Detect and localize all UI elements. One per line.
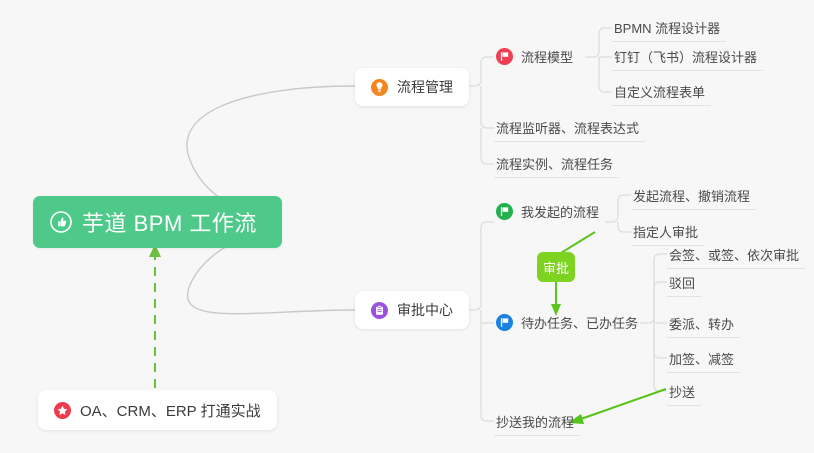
star-icon <box>54 402 71 419</box>
node-start-cancel-flow[interactable]: 发起流程、撤销流程 <box>631 182 756 210</box>
node-process-model[interactable]: 流程模型 <box>494 43 579 71</box>
flag-icon <box>496 48 513 65</box>
connector-process-model-children <box>585 28 612 57</box>
root-node[interactable]: 芋道 BPM 工作流 <box>33 196 282 248</box>
node-label-delegate-transfer: 委派、转办 <box>669 314 734 333</box>
node-label-process-listener-expression: 流程监听器、流程表达式 <box>496 118 639 137</box>
node-label-reject: 驳回 <box>669 273 695 292</box>
lightbulb-icon <box>371 79 388 96</box>
node-todo-done-tasks[interactable]: 待办任务、已办任务 <box>494 309 644 337</box>
connector-approval-center-child2 <box>481 310 494 323</box>
connector-my-flows-child2 <box>618 222 631 232</box>
node-cc-to-me-flows[interactable]: 抄送我的流程 <box>494 408 580 436</box>
node-label-cc-to-me-flows: 抄送我的流程 <box>496 412 574 431</box>
node-custom-form[interactable]: 自定义流程表单 <box>612 78 711 106</box>
node-label-process-instance-task: 流程实例、流程任务 <box>496 154 613 173</box>
node-label-dingtalk-feishu-designer: 钉钉（飞书）流程设计器 <box>614 47 757 66</box>
node-label-cc: 抄送 <box>669 382 695 401</box>
node-label-start-cancel-flow: 发起流程、撤销流程 <box>633 186 750 205</box>
node-my-initiated-flows[interactable]: 我发起的流程 <box>494 198 605 226</box>
footnote-label: OA、CRM、ERP 打通实战 <box>80 400 261 421</box>
node-label-custom-form: 自定义流程表单 <box>614 82 705 101</box>
branch-label-approval-center: 审批中心 <box>397 300 453 320</box>
connector-todo-child5 <box>654 323 667 391</box>
node-countersign[interactable]: 会签、或签、依次审批 <box>667 241 805 269</box>
connector-process-management-children <box>466 57 494 86</box>
connector-todo-children <box>640 254 667 323</box>
node-label-add-remove-sign: 加签、减签 <box>669 349 734 368</box>
node-label-process-model: 流程模型 <box>521 47 573 66</box>
connector-todo-child4 <box>654 323 667 358</box>
node-process-instance-task[interactable]: 流程实例、流程任务 <box>494 150 619 178</box>
arrow-cc-line <box>578 389 666 420</box>
node-bpmn-designer[interactable]: BPMN 流程设计器 <box>612 14 726 42</box>
approval-tag[interactable]: 审批 <box>537 252 575 282</box>
footnote-node-oa-crm-erp[interactable]: OA、CRM、ERP 打通实战 <box>38 390 277 430</box>
connector-process-management-branch-stem2 <box>481 128 494 164</box>
node-label-countersign: 会签、或签、依次审批 <box>669 245 799 264</box>
node-delegate-transfer[interactable]: 委派、转办 <box>667 310 740 338</box>
mindmap-canvas: 芋道 BPM 工作流 流程管理 流程模型 BPMN 流程设计器 钉钉（飞书）流程 <box>0 0 814 453</box>
connector-approval-center-child3 <box>481 323 494 421</box>
branch-label-process-management: 流程管理 <box>397 77 453 97</box>
node-add-remove-sign[interactable]: 加签、减签 <box>667 345 740 373</box>
approval-tag-label: 审批 <box>543 258 569 277</box>
connector-todo-child2 <box>654 282 667 323</box>
node-dingtalk-feishu-designer[interactable]: 钉钉（飞书）流程设计器 <box>612 43 763 71</box>
node-label-bpmn-designer: BPMN 流程设计器 <box>614 18 720 37</box>
node-label-todo-done-tasks: 待办任务、已办任务 <box>521 313 638 332</box>
thumbs-up-icon <box>50 211 72 233</box>
connector-process-management-branch-stem <box>481 86 494 128</box>
branch-node-process-management[interactable]: 流程管理 <box>355 68 469 106</box>
clipboard-icon <box>371 302 388 319</box>
branch-node-approval-center[interactable]: 审批中心 <box>355 291 469 329</box>
node-label-my-initiated-flows: 我发起的流程 <box>521 202 599 221</box>
flag-icon <box>496 203 513 220</box>
connector-process-model-child3 <box>599 57 612 92</box>
root-label: 芋道 BPM 工作流 <box>82 206 257 238</box>
flag-icon <box>496 314 513 331</box>
node-reject[interactable]: 驳回 <box>667 269 701 297</box>
connector-approval-center-children <box>466 222 494 310</box>
node-process-listener-expression[interactable]: 流程监听器、流程表达式 <box>494 114 645 142</box>
node-label-assignee-approval: 指定人审批 <box>633 222 698 241</box>
connector-my-flows-children <box>605 195 631 222</box>
node-cc[interactable]: 抄送 <box>667 378 701 406</box>
